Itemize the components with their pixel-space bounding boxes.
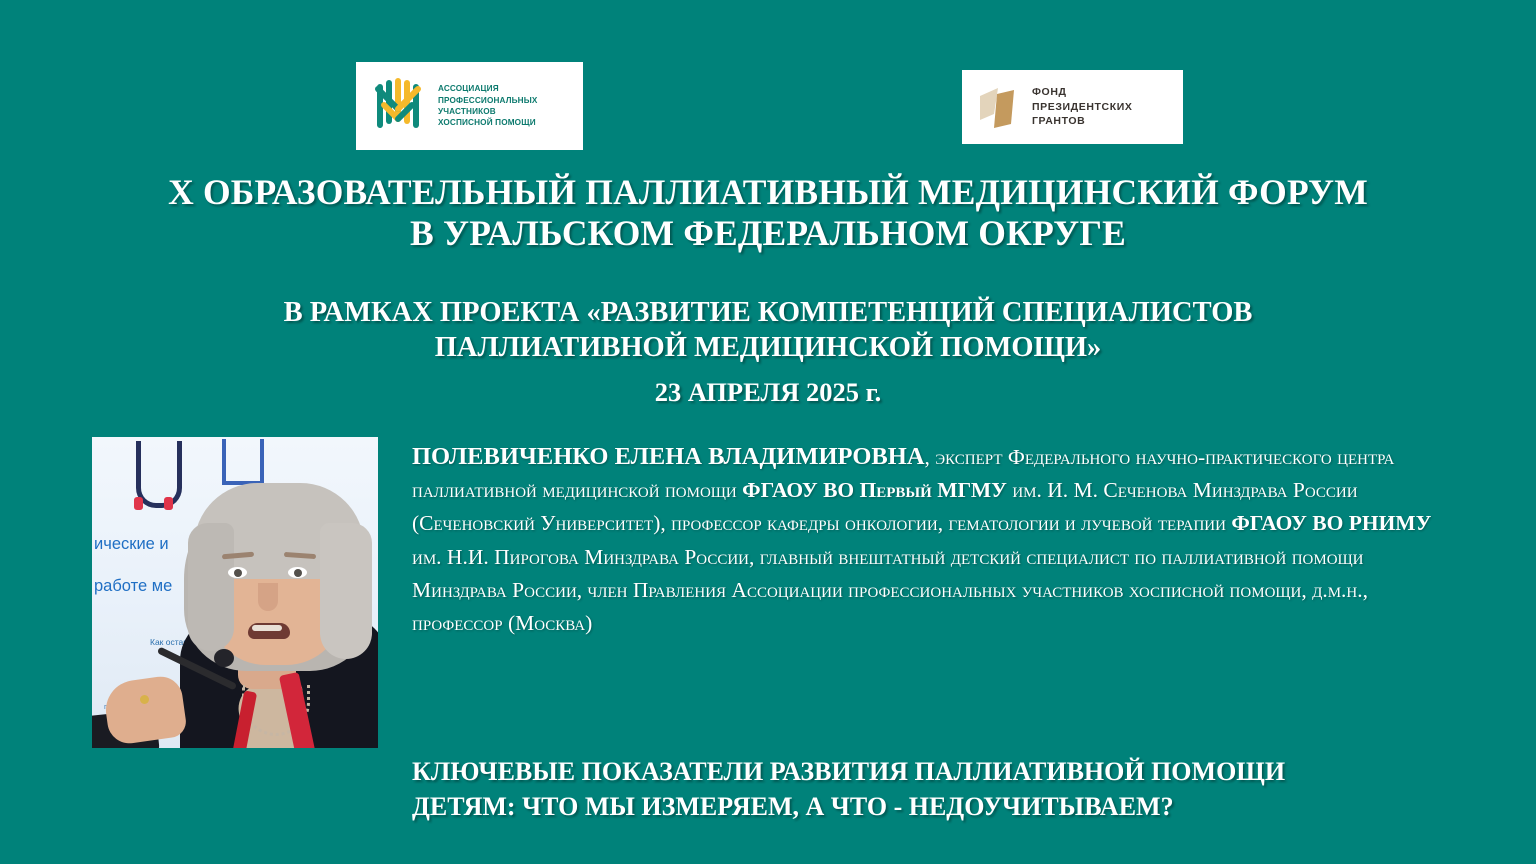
talk-title: КЛЮЧЕВЫЕ ПОКАЗАТЕЛИ РАЗВИТИЯ ПАЛЛИАТИВНО… [412, 754, 1458, 824]
association-hospice-care-icon [370, 75, 428, 137]
logo-strip: АССОЦИАЦИЯПРОФЕССИОНАЛЬНЫХУЧАСТНИКОВХОСП… [0, 62, 1536, 154]
speaker-name: ПОЛЕВИЧЕНКО ЕЛЕНА ВЛАДИМИРОВНА [412, 443, 925, 470]
talk-title-line-2: ДЕТЯМ: ЧТО МЫ ИЗМЕРЯЕМ, А ЧТО - НЕДОУЧИТ… [412, 789, 1458, 824]
presidential-grants-icon [978, 84, 1020, 130]
stethoscope-earpiece-right-icon [164, 497, 173, 510]
forum-title-line-2: В УРАЛЬСКОМ ФЕДЕРАЛЬНОМ ОКРУГЕ [0, 213, 1536, 254]
project-subtitle-line-1: В РАМКАХ ПРОЕКТА «РАЗВИТИЕ КОМПЕТЕНЦИЙ С… [0, 296, 1536, 331]
forum-title: X ОБРАЗОВАТЕЛЬНЫЙ ПАЛЛИАТИВНЫЙ МЕДИЦИНСК… [0, 172, 1536, 254]
speaker-pupil-right [294, 569, 302, 577]
project-subtitle: В РАМКАХ ПРОЕКТА «РАЗВИТИЕ КОМПЕТЕНЦИЙ С… [0, 296, 1536, 366]
speaker-bio-bold-2: ФГАОУ ВО РНИМУ [1231, 511, 1431, 535]
speaker-hair-left [188, 523, 234, 651]
forum-title-line-1: X ОБРАЗОВАТЕЛЬНЫЙ ПАЛЛИАТИВНЫЙ МЕДИЦИНСК… [0, 172, 1536, 213]
event-date-value: 23 АПРЕЛЯ 2025 [655, 377, 859, 407]
stethoscope-earpiece-left-icon [134, 497, 143, 510]
speaker-teeth [252, 625, 282, 631]
speaker-bio-part-3: им. Н.И. Пирогова Минздрава России, глав… [412, 545, 1368, 635]
talk-title-line-1: КЛЮЧЕВЫЕ ПОКАЗАТЕЛИ РАЗВИТИЯ ПАЛЛИАТИВНО… [412, 754, 1458, 789]
speaker-pupil-left [234, 569, 242, 577]
presidential-grants-logo-text: ФОНДПРЕЗИДЕНТСКИХГРАНТОВ [1032, 85, 1133, 129]
backdrop-text-line-a: ические и [94, 535, 169, 554]
association-logo-text: АССОЦИАЦИЯПРОФЕССИОНАЛЬНЫХУЧАСТНИКОВХОСП… [438, 83, 537, 129]
speaker-mouth [248, 623, 290, 639]
event-date: 23 АПРЕЛЯ 2025 г. [0, 377, 1536, 408]
project-subtitle-line-2: ПАЛЛИАТИВНОЙ МЕДИЦИНСКОЙ ПОМОЩИ» [0, 331, 1536, 366]
presidential-grants-logo-box: ФОНДПРЕЗИДЕНТСКИХГРАНТОВ [962, 70, 1183, 144]
speaker-bio: ПОЛЕВИЧЕНКО ЕЛЕНА ВЛАДИМИРОВНА, эксперт … [412, 440, 1458, 640]
speaker-nose [258, 583, 278, 611]
microphone-head-icon [214, 649, 234, 667]
speaker-eye-right [288, 567, 307, 578]
event-date-suffix: г. [859, 377, 881, 407]
association-logo-box: АССОЦИАЦИЯПРОФЕССИОНАЛЬНЫХУЧАСТНИКОВХОСП… [356, 62, 583, 150]
speaker-hair-right [320, 523, 372, 659]
speaker-photo: ические и работе ме асп е Как остава про… [92, 437, 378, 748]
backdrop-text-line-b: работе ме [94, 577, 172, 596]
stethoscope-icon [136, 441, 182, 508]
speaker-bio-bold-1: ФГАОУ ВО Первый МГМУ [742, 478, 1007, 502]
speaker-ring [140, 695, 149, 704]
backdrop-rectangle-icon [222, 439, 264, 485]
speaker-eye-left [228, 567, 247, 578]
